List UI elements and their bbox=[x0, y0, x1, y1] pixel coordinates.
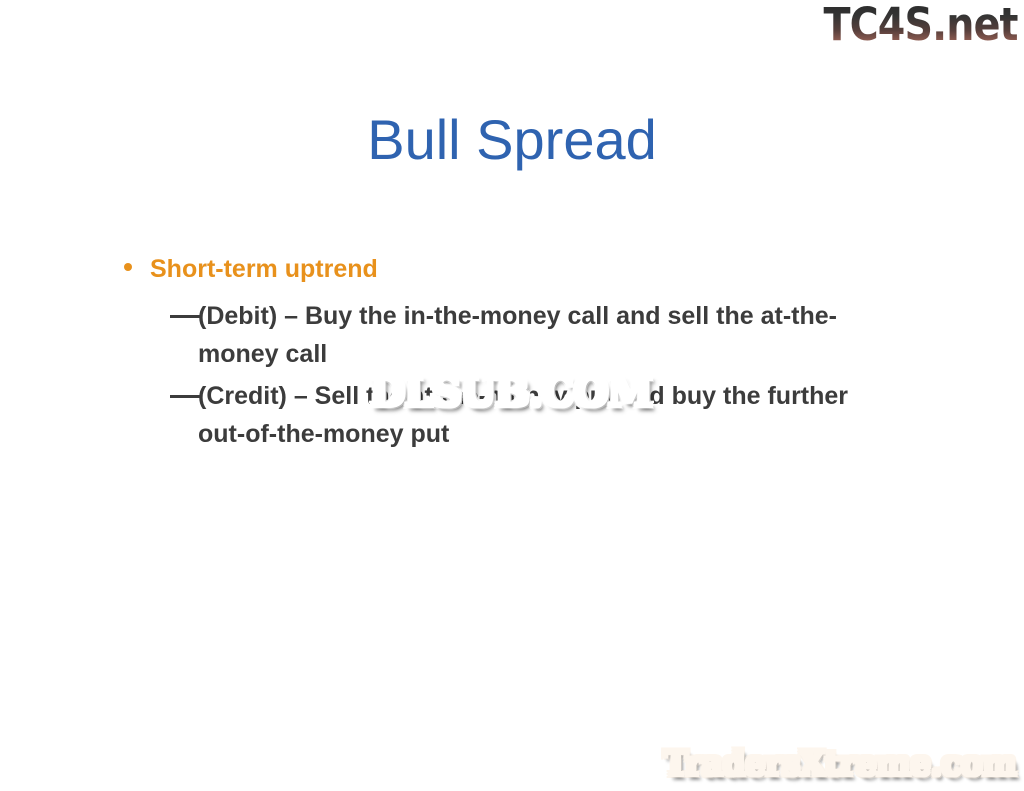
dlsub-watermark: DLSUB.COM bbox=[370, 371, 652, 415]
tradersxtreme-brand-logo: TradersXtreme.com bbox=[664, 745, 1016, 783]
bullet-level2-label: (Debit) – Buy the in-the-money call and … bbox=[198, 297, 858, 373]
slide-canvas: TC4S.net Bull Spread Short-term uptrend … bbox=[0, 0, 1024, 791]
bullet-dot-icon bbox=[124, 263, 132, 271]
em-dash-marker-icon bbox=[170, 315, 201, 318]
slide-body: Short-term uptrend (Debit) – Buy the in-… bbox=[118, 252, 858, 457]
bullet-level1-label: Short-term uptrend bbox=[150, 255, 378, 283]
bullet-level1-short-term-uptrend: Short-term uptrend bbox=[118, 252, 858, 286]
page-title: Bull Spread bbox=[0, 108, 1024, 172]
em-dash-marker-icon bbox=[170, 395, 201, 398]
bullet-level2-debit: (Debit) – Buy the in-the-money call and … bbox=[118, 297, 858, 373]
tc4s-brand-logo: TC4S.net bbox=[824, 2, 1018, 48]
